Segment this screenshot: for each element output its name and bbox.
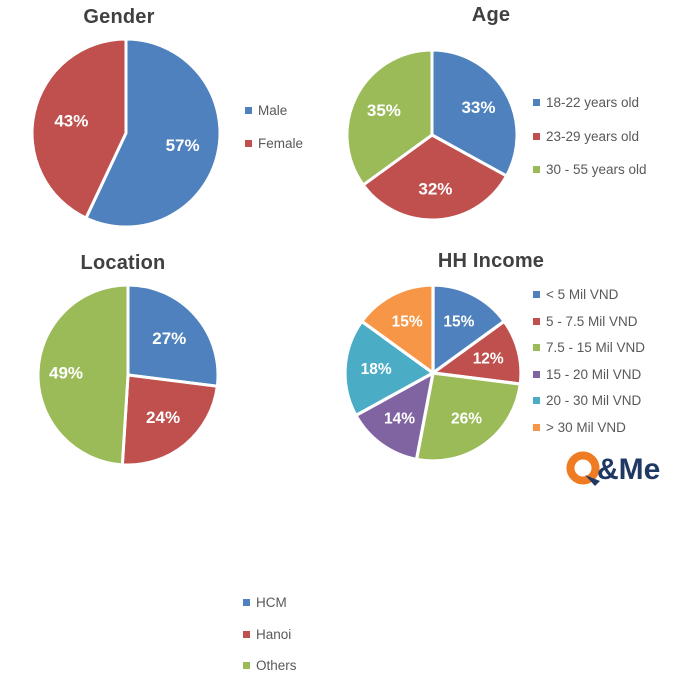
legend-swatch-icon bbox=[245, 107, 252, 114]
legend-item-label: 30 - 55 years old bbox=[546, 163, 647, 177]
legend-item[interactable]: 18-22 years old bbox=[533, 96, 647, 110]
legend-item[interactable]: < 5 Mil VND bbox=[533, 288, 645, 302]
legend-item[interactable]: 20 - 30 Mil VND bbox=[533, 394, 645, 408]
logo-me-text: &Me bbox=[597, 453, 660, 486]
legend-item[interactable]: Female bbox=[245, 137, 303, 151]
legend-item[interactable]: 15 - 20 Mil VND bbox=[533, 368, 645, 382]
qandme-logo: &Me bbox=[565, 449, 677, 489]
pie-slice-label: 49% bbox=[49, 364, 83, 383]
legend-swatch-icon bbox=[533, 166, 540, 173]
pie-slice-label: 15% bbox=[392, 314, 423, 331]
legend-item[interactable]: > 30 Mil VND bbox=[533, 421, 645, 435]
legend-item-label: 18-22 years old bbox=[546, 96, 639, 110]
legend-item[interactable]: 7.5 - 15 Mil VND bbox=[533, 341, 645, 355]
legend-swatch-icon bbox=[243, 631, 250, 638]
legend-swatch-icon bbox=[533, 371, 540, 378]
legend-item-label: Others bbox=[256, 659, 297, 673]
legend-item-label: 20 - 30 Mil VND bbox=[546, 394, 641, 408]
legend-item-label: 5 - 7.5 Mil VND bbox=[546, 315, 638, 329]
legend-item-label: Hanoi bbox=[256, 628, 291, 642]
pie-slice-label: 12% bbox=[473, 350, 504, 367]
legend-swatch-icon bbox=[243, 662, 250, 669]
pie-slice-label: 35% bbox=[367, 101, 401, 120]
legend-item-label: 15 - 20 Mil VND bbox=[546, 368, 641, 382]
pie-chart-location: 27%24%49% bbox=[0, 248, 342, 495]
legend-swatch-icon bbox=[243, 599, 250, 606]
legend-item-label: HCM bbox=[256, 596, 287, 610]
legend-item[interactable]: 30 - 55 years old bbox=[533, 163, 647, 177]
pie-slice-label: 18% bbox=[361, 361, 392, 378]
pie-slice-label: 32% bbox=[418, 179, 452, 198]
legend-swatch-icon bbox=[245, 140, 252, 147]
pie-slice-label: 24% bbox=[146, 408, 180, 427]
legend-gender: MaleFemale bbox=[245, 104, 303, 169]
legend-swatch-icon bbox=[533, 133, 540, 140]
legend-location: HCMHanoiOthers bbox=[243, 596, 297, 691]
legend-item[interactable]: 23-29 years old bbox=[533, 130, 647, 144]
legend-swatch-icon bbox=[533, 291, 540, 298]
pie-slice-label: 57% bbox=[166, 136, 200, 155]
legend-swatch-icon bbox=[533, 99, 540, 106]
slide-canvas: Gender 57%43% MaleFemale Age 33%32%35% 1… bbox=[0, 0, 684, 495]
legend-item-label: Female bbox=[258, 137, 303, 151]
pie-slice-label: 14% bbox=[384, 411, 415, 428]
legend-swatch-icon bbox=[533, 424, 540, 431]
legend-swatch-icon bbox=[533, 397, 540, 404]
legend-item-label: 7.5 - 15 Mil VND bbox=[546, 341, 645, 355]
legend-item[interactable]: Male bbox=[245, 104, 303, 118]
legend-hh-income: < 5 Mil VND5 - 7.5 Mil VND7.5 - 15 Mil V… bbox=[533, 288, 645, 447]
legend-item-label: < 5 Mil VND bbox=[546, 288, 618, 302]
pie-slice-label: 15% bbox=[443, 314, 474, 331]
legend-item[interactable]: 5 - 7.5 Mil VND bbox=[533, 315, 645, 329]
legend-item[interactable]: HCM bbox=[243, 596, 297, 610]
legend-swatch-icon bbox=[533, 318, 540, 325]
legend-item[interactable]: Hanoi bbox=[243, 628, 297, 642]
legend-age: 18-22 years old23-29 years old30 - 55 ye… bbox=[533, 96, 647, 197]
legend-item[interactable]: Others bbox=[243, 659, 297, 673]
chart-panel-location: Location 27%24%49% HCMHanoiOthers bbox=[0, 248, 342, 495]
legend-item-label: > 30 Mil VND bbox=[546, 421, 626, 435]
legend-swatch-icon bbox=[533, 344, 540, 351]
pie-slice-label: 43% bbox=[54, 111, 88, 130]
legend-item-label: Male bbox=[258, 104, 287, 118]
legend-item-label: 23-29 years old bbox=[546, 130, 639, 144]
pie-slice-label: 26% bbox=[451, 411, 482, 428]
pie-slice-label: 27% bbox=[152, 329, 186, 348]
chart-panel-gender: Gender 57%43% MaleFemale bbox=[0, 0, 342, 248]
pie-slice-label: 33% bbox=[461, 98, 495, 117]
logo-q-ring-icon bbox=[571, 456, 596, 481]
